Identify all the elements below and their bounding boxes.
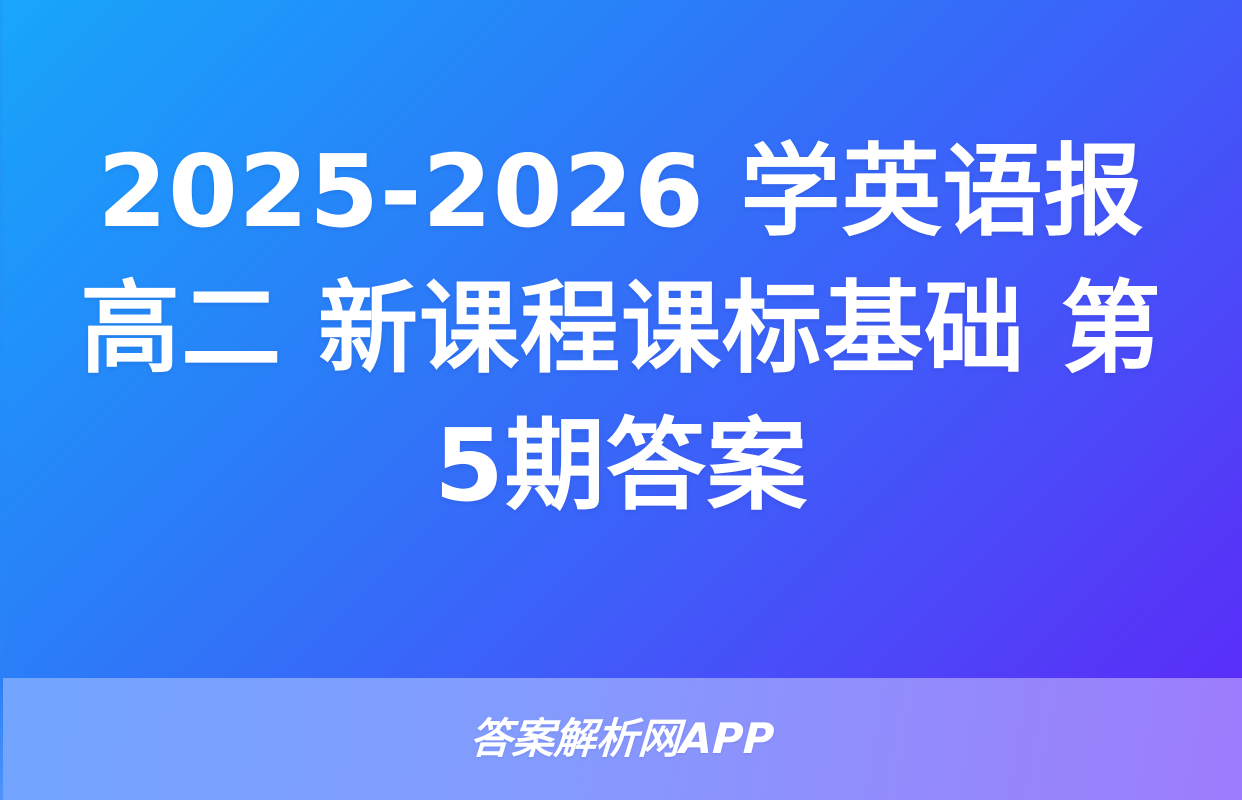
footer-brand-band: 答案解析网APP	[3, 678, 1242, 800]
hero-title-block: 2025-2026 学英语报 高二 新课程课标基础 第5期答案	[0, 0, 1242, 678]
app-brand-label: 答案解析网APP	[469, 718, 775, 760]
page-title: 2025-2026 学英语报 高二 新课程课标基础 第5期答案	[56, 123, 1186, 534]
answer-cover-card: 2025-2026 学英语报 高二 新课程课标基础 第5期答案 答案解析网APP	[0, 0, 1242, 800]
